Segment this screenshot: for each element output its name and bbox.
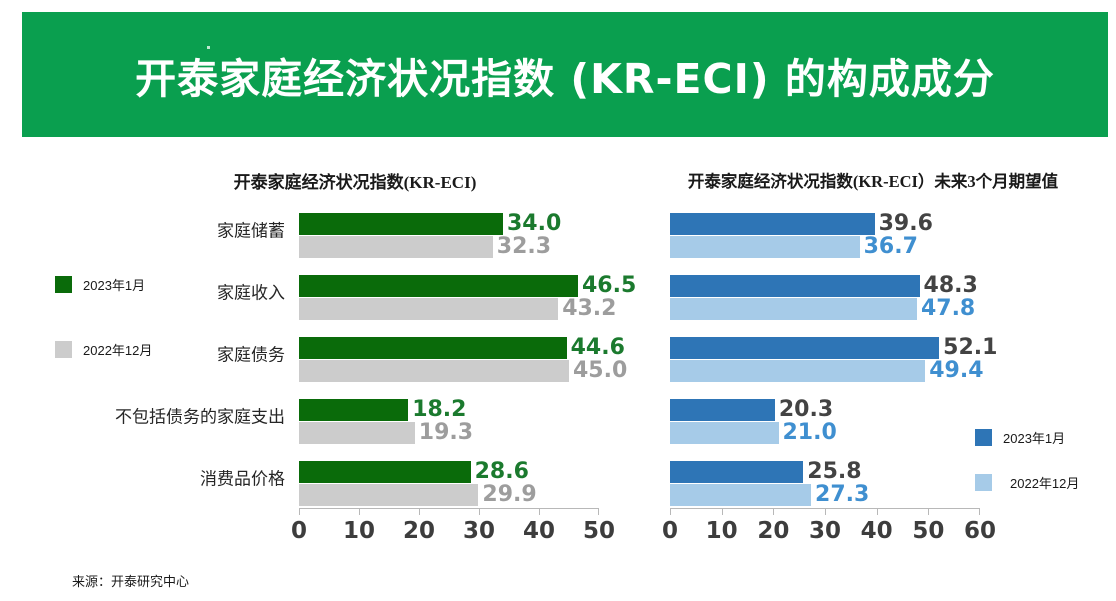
- bar-previous: [670, 298, 917, 320]
- category-label: 家庭债务: [217, 341, 285, 366]
- legend-label: 2022年12月: [83, 340, 152, 359]
- bar-group: 48.347.8: [670, 275, 980, 320]
- bar-group: 39.636.7: [670, 213, 980, 258]
- bar-value-label: 18.2: [412, 397, 466, 422]
- category-label: 家庭收入: [217, 279, 285, 304]
- bar-group: 20.321.0: [670, 399, 980, 444]
- bar-current: [670, 337, 939, 359]
- axis-tick-label: 0: [662, 518, 678, 544]
- axis-tick: [419, 508, 420, 515]
- left-chart-title: 开泰家庭经济状况指数(KR-ECI): [20, 168, 620, 193]
- axis-tick-label: 60: [964, 518, 996, 544]
- bar-group: 52.149.4: [670, 337, 980, 382]
- bar-previous: [670, 422, 779, 444]
- bar-value-label: 44.6: [571, 335, 625, 360]
- axis-tick: [299, 508, 300, 515]
- bar-group: 不包括债务的家庭支出18.219.3: [299, 399, 599, 444]
- bar-current: [670, 461, 803, 483]
- bar-value-label: 25.8: [807, 459, 861, 484]
- axis-tick: [773, 508, 774, 515]
- axis-tick-label: 20: [403, 518, 435, 544]
- bar-previous: [299, 484, 478, 506]
- axis-tick-label: 10: [343, 518, 375, 544]
- bar-value-label: 48.3: [924, 273, 978, 298]
- bar-value-label: 46.5: [582, 273, 636, 298]
- bar-value-label: 21.0: [783, 420, 837, 445]
- bar-previous: [670, 484, 811, 506]
- legend-label: 2023年1月: [83, 275, 145, 294]
- bar-current: [299, 337, 567, 359]
- header-banner: 开泰家庭经济状况指数 (KR-ECI) 的构成成分: [22, 12, 1108, 137]
- axis-tick: [722, 508, 723, 515]
- bar-previous: [299, 236, 493, 258]
- bar-value-label: 27.3: [815, 482, 869, 507]
- category-label: 家庭储蓄: [217, 217, 285, 242]
- axis-tick-label: 50: [912, 518, 944, 544]
- left-chart-panel: 开泰家庭经济状况指数(KR-ECI) 家庭储蓄34.032.3家庭收入46.54…: [20, 150, 620, 590]
- legend-swatch-icon: [55, 276, 72, 293]
- legend-item-left-2023[interactable]: 2023年1月: [55, 275, 145, 294]
- bar-value-label: 36.7: [864, 234, 918, 259]
- legend-label: 2022年12月: [1010, 473, 1079, 492]
- axis-tick: [598, 508, 599, 515]
- decorative-speck: [207, 46, 210, 49]
- axis-tick-label: 30: [463, 518, 495, 544]
- right-chart-panel: 开泰家庭经济状况指数(KR-ECI）未来3个月期望值 39.636.748.34…: [630, 150, 1116, 590]
- axis-tick: [359, 508, 360, 515]
- bar-value-label: 20.3: [779, 397, 833, 422]
- page-title: 开泰家庭经济状况指数 (KR-ECI) 的构成成分: [135, 45, 995, 105]
- legend-swatch-icon: [55, 341, 72, 358]
- bar-current: [670, 399, 775, 421]
- left-chart-plot-area: 家庭储蓄34.032.3家庭收入46.543.2家庭债务44.645.0不包括债…: [299, 207, 599, 537]
- bar-value-label: 45.0: [573, 358, 627, 383]
- bar-value-label: 32.3: [497, 234, 551, 259]
- axis-tick-label: 50: [583, 518, 615, 544]
- axis-tick-label: 0: [291, 518, 307, 544]
- axis-tick-label: 20: [757, 518, 789, 544]
- bar-current: [299, 399, 408, 421]
- bar-current: [299, 275, 578, 297]
- bar-group: 家庭收入46.543.2: [299, 275, 599, 320]
- category-label: 消费品价格: [200, 465, 285, 490]
- bar-group: 25.827.3: [670, 461, 980, 506]
- bar-previous: [670, 360, 925, 382]
- legend-swatch-icon: [975, 429, 992, 446]
- bar-current: [299, 461, 471, 483]
- bar-group: 消费品价格28.629.9: [299, 461, 599, 506]
- axis-tick-label: 10: [706, 518, 738, 544]
- legend-item-left-2022[interactable]: 2022年12月: [55, 340, 152, 359]
- axis-tick: [825, 508, 826, 515]
- bar-value-label: 43.2: [562, 296, 616, 321]
- bar-value-label: 49.4: [929, 358, 983, 383]
- axis-tick: [670, 508, 671, 515]
- category-label: 不包括债务的家庭支出: [115, 403, 285, 428]
- bar-value-label: 39.6: [879, 211, 933, 236]
- bar-previous: [670, 236, 860, 258]
- right-chart-plot-area: 39.636.748.347.852.149.420.321.025.827.3…: [670, 207, 980, 537]
- bar-previous: [299, 360, 569, 382]
- legend-item-right-2023[interactable]: 2023年1月: [975, 428, 1065, 447]
- axis-tick: [928, 508, 929, 515]
- bar-value-label: 34.0: [507, 211, 561, 236]
- bar-previous: [299, 298, 558, 320]
- bar-value-label: 28.6: [475, 459, 529, 484]
- axis-tick-label: 40: [861, 518, 893, 544]
- legend-item-right-2022[interactable]: 2022年12月: [975, 473, 1079, 492]
- bar-group: 家庭储蓄34.032.3: [299, 213, 599, 258]
- bar-value-label: 19.3: [419, 420, 473, 445]
- bar-current: [670, 213, 875, 235]
- axis-tick: [979, 508, 980, 515]
- bar-group: 家庭债务44.645.0: [299, 337, 599, 382]
- bar-value-label: 47.8: [921, 296, 975, 321]
- legend-label: 2023年1月: [1003, 428, 1065, 447]
- axis-tick: [877, 508, 878, 515]
- bar-previous: [299, 422, 415, 444]
- bar-current: [670, 275, 920, 297]
- bar-value-label: 29.9: [482, 482, 536, 507]
- axis-tick: [479, 508, 480, 515]
- axis-tick-label: 30: [809, 518, 841, 544]
- axis-tick: [539, 508, 540, 515]
- source-note: 来源：开泰研究中心: [72, 571, 189, 590]
- axis-line: [299, 508, 599, 509]
- legend-swatch-icon: [975, 474, 992, 491]
- bar-value-label: 52.1: [943, 335, 997, 360]
- right-chart-title: 开泰家庭经济状况指数(KR-ECI）未来3个月期望值: [630, 168, 1116, 192]
- axis-tick-label: 40: [523, 518, 555, 544]
- bar-current: [299, 213, 503, 235]
